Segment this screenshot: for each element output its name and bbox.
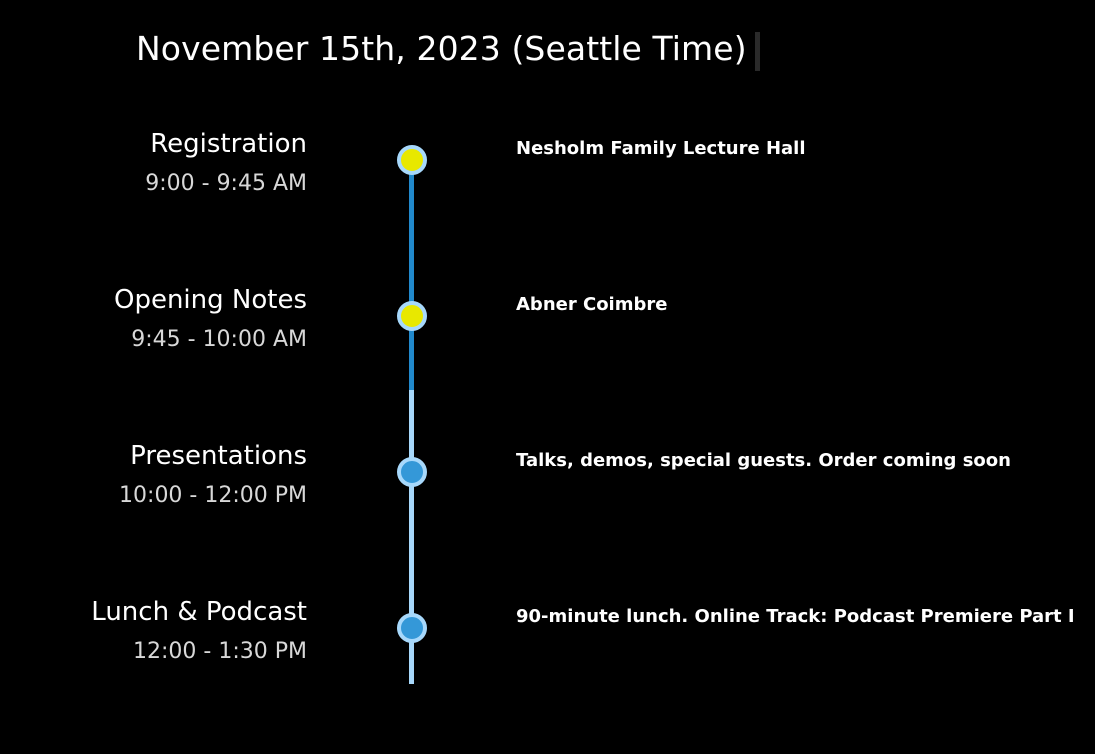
timeline-row-left: Lunch & Podcast 12:00 - 1:30 PM [0, 598, 307, 664]
timeline-row[interactable]: Presentations 10:00 - 12:00 PM Talks, de… [0, 442, 1095, 598]
timeline-row[interactable]: Lunch & Podcast 12:00 - 1:30 PM 90-minut… [0, 598, 1095, 754]
timeline-dot-marker[interactable] [397, 145, 427, 175]
timeline-dot-marker[interactable] [397, 613, 427, 643]
event-description: Abner Coimbre [516, 294, 667, 316]
timeline-row-left: Presentations 10:00 - 12:00 PM [0, 442, 307, 508]
timeline-dot-marker[interactable] [397, 301, 427, 331]
timeline-row[interactable]: Registration 9:00 - 9:45 AM Nesholm Fami… [0, 130, 1095, 286]
page-title-text: November 15th, 2023 (Seattle Time) [136, 29, 747, 68]
event-description: 90-minute lunch. Online Track: Podcast P… [516, 606, 1075, 628]
event-time: 9:45 - 10:00 AM [0, 327, 307, 352]
event-description: Talks, demos, special guests. Order comi… [516, 450, 1011, 472]
timeline-row-left: Registration 9:00 - 9:45 AM [0, 130, 307, 196]
timeline-row-left: Opening Notes 9:45 - 10:00 AM [0, 286, 307, 352]
event-time: 9:00 - 9:45 AM [0, 171, 307, 196]
schedule-timeline: Registration 9:00 - 9:45 AM Nesholm Fami… [0, 100, 1095, 684]
page-title: November 15th, 2023 (Seattle Time) [136, 31, 760, 70]
event-title: Registration [0, 130, 307, 160]
text-caret [755, 32, 760, 71]
event-time: 10:00 - 12:00 PM [0, 483, 307, 508]
event-time: 12:00 - 1:30 PM [0, 639, 307, 664]
event-description: Nesholm Family Lecture Hall [516, 138, 806, 160]
event-title: Presentations [0, 442, 307, 472]
timeline-dot-marker[interactable] [397, 457, 427, 487]
event-title: Lunch & Podcast [0, 598, 307, 628]
page-header: November 15th, 2023 (Seattle Time) [0, 0, 1095, 100]
event-title: Opening Notes [0, 286, 307, 316]
timeline-row[interactable]: Opening Notes 9:45 - 10:00 AM Abner Coim… [0, 286, 1095, 442]
